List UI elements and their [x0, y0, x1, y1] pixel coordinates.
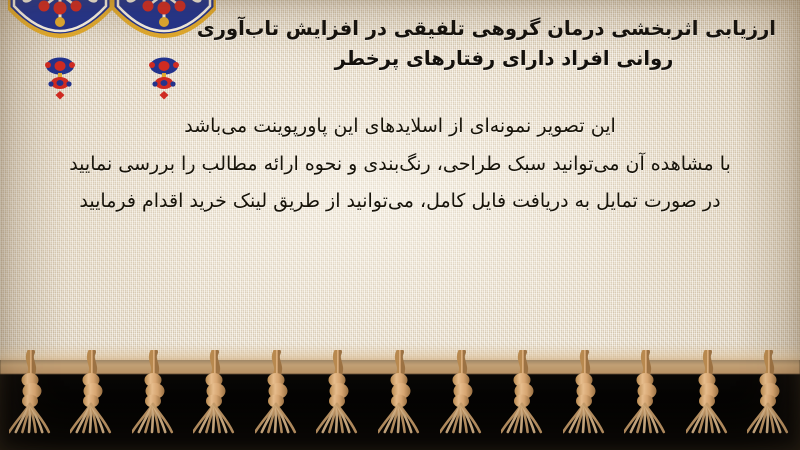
tassel: [686, 350, 730, 436]
tassel: [378, 350, 422, 436]
tassel: [70, 350, 114, 436]
slide-title-line-1: ارزیابی اثربخشی درمان گروهی تلفیقی در اف…: [232, 14, 776, 44]
tassel: [193, 350, 237, 436]
tassel: [624, 350, 668, 436]
persian-pendant-motif-icon: [43, 57, 77, 101]
persian-pendant-motif-icon: [147, 57, 181, 101]
tassel: [132, 350, 176, 436]
tassel: [316, 350, 360, 436]
tassel: [563, 350, 607, 436]
presentation-slide: ارزیابی اثربخشی درمان گروهی تلفیقی در اف…: [0, 0, 800, 450]
bottom-black-band: [0, 360, 800, 450]
carpet-tassel-fringe: [0, 360, 800, 450]
slide-title-line-2: روانی افراد دارای رفتارهای پرخطر: [232, 44, 776, 74]
slide-title: ارزیابی اثربخشی درمان گروهی تلفیقی در اف…: [232, 14, 776, 74]
tassel: [501, 350, 545, 436]
tassel: [440, 350, 484, 436]
slide-body-line-2: با مشاهده آن می‌توانید سبک طراحی، رنگ‌بن…: [0, 146, 800, 184]
slide-body-line-1: این تصویر نمونه‌ای از اسلایدهای این پاور…: [0, 108, 800, 146]
tassel: [9, 350, 53, 436]
slide-body-text: این تصویر نمونه‌ای از اسلایدهای این پاور…: [0, 108, 800, 221]
tassel: [255, 350, 299, 436]
tassel: [747, 350, 791, 436]
slide-body-line-3: در صورت تمایل به دریافت فایل کامل، می‌تو…: [0, 183, 800, 221]
